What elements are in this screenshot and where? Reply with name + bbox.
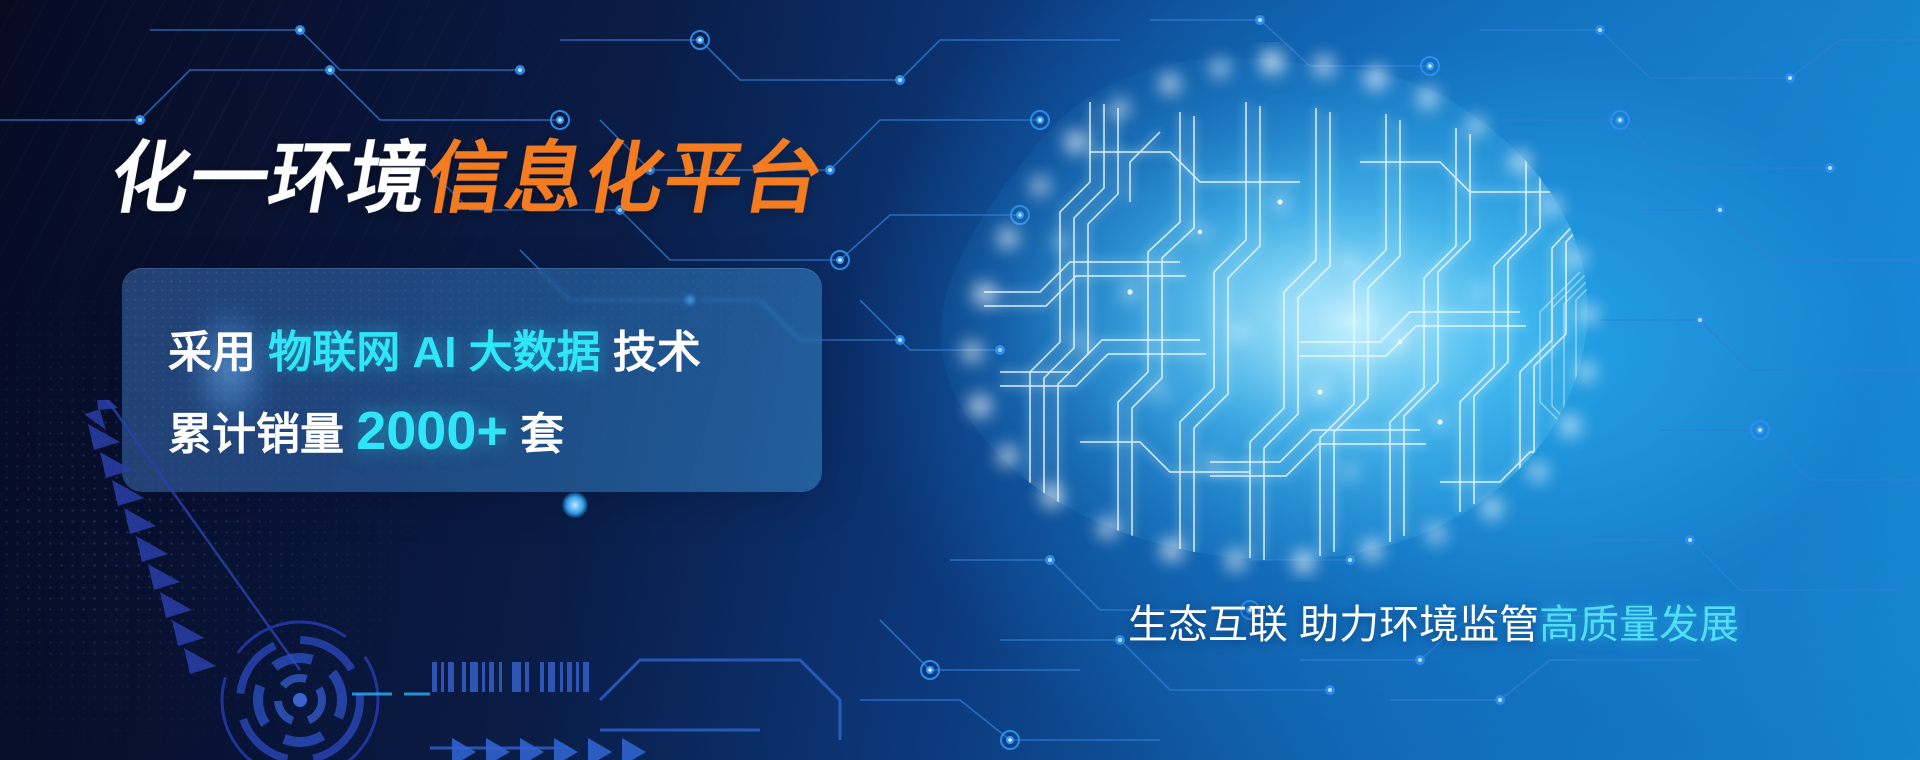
barcode-strip bbox=[432, 662, 589, 692]
card-line1-highlight: 物联网 AI 大数据 bbox=[268, 328, 600, 377]
tagline-cyan-text: 高质量发展 bbox=[1539, 603, 1739, 647]
arrow-chevrons bbox=[84, 400, 216, 674]
hero-banner: 化一环境信息化平台 采用 物联网 AI 大数据 技术 累计销量 2000+ 套 … bbox=[0, 0, 1920, 760]
circuit-brain-icon bbox=[880, 42, 1640, 582]
card-line1-suffix: 技术 bbox=[613, 328, 701, 377]
title-white-text: 化一环境 bbox=[104, 134, 436, 222]
card-line-technology: 采用 物联网 AI 大数据 技术 bbox=[168, 316, 701, 380]
tagline-white-text: 生态互联 助力环境监管 bbox=[1128, 603, 1539, 647]
title-orange-text: 信息化平台 bbox=[420, 134, 831, 222]
page-title: 化一环境信息化平台 bbox=[105, 139, 830, 217]
card-line1-prefix: 采用 bbox=[168, 328, 256, 377]
hud-dial bbox=[222, 622, 378, 760]
hud-decoration-group bbox=[0, 400, 900, 760]
accent-dot bbox=[562, 492, 588, 518]
banner-tagline: 生态互联 助力环境监管高质量发展 bbox=[1128, 592, 1739, 650]
